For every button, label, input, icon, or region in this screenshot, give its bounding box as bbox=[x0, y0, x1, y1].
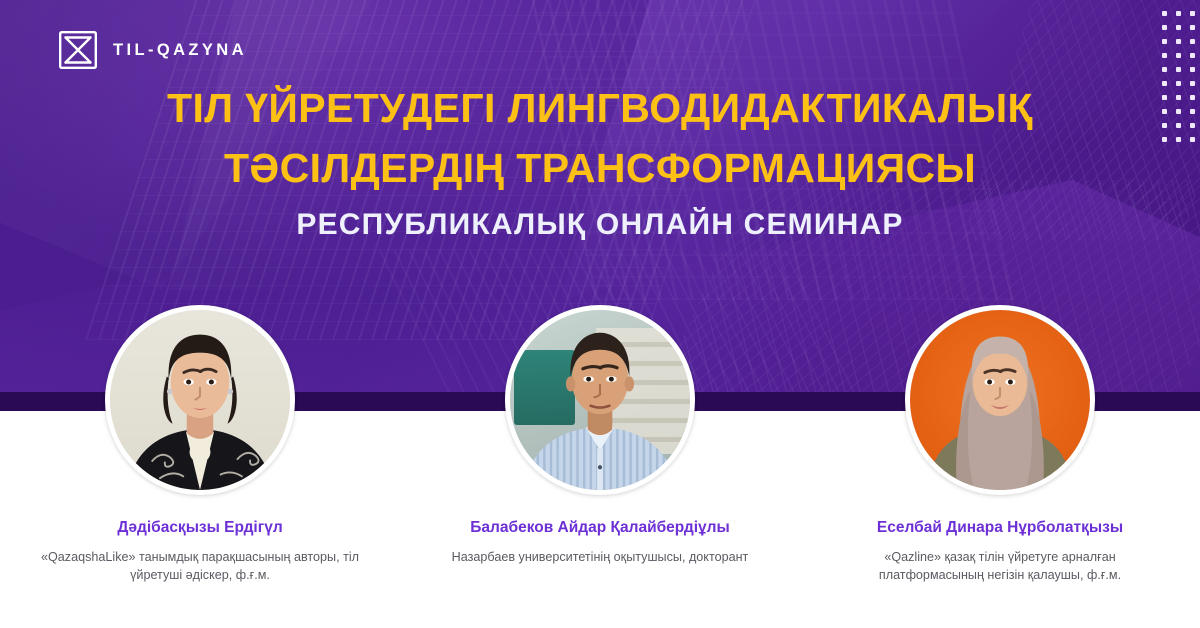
decorative-dot bbox=[1190, 81, 1195, 86]
speaker-name: Еселбай Динара Нұрболатқызы bbox=[877, 519, 1123, 537]
decorative-dot bbox=[1162, 25, 1167, 30]
speaker-portrait-dadibasqyzy-erdigul bbox=[110, 310, 290, 490]
speaker-card: Балабеков Айдар Қалайбердіұлы Назарбаев … bbox=[400, 305, 800, 566]
page-title-line2: ТӘСІЛДЕРДІҢ ТРАНСФОРМАЦИЯСЫ bbox=[0, 148, 1200, 189]
speaker-portrait-eselbay-dinara bbox=[910, 310, 1090, 490]
brand-name: TIL-QAZYNA bbox=[113, 41, 247, 60]
decorative-dot bbox=[1176, 39, 1181, 44]
decorative-dot bbox=[1162, 67, 1167, 72]
speaker-card: Еселбай Динара Нұрболатқызы «Qazline» қа… bbox=[800, 305, 1200, 585]
decorative-dot bbox=[1176, 25, 1181, 30]
decorative-dot bbox=[1162, 137, 1167, 142]
speakers-row: Дәдібасқызы Ердігүл «QazaqshaLike» таным… bbox=[0, 305, 1200, 605]
decorative-dot bbox=[1176, 53, 1181, 58]
decorative-dot bbox=[1162, 53, 1167, 58]
decorative-dot bbox=[1190, 53, 1195, 58]
decorative-dot bbox=[1190, 25, 1195, 30]
speaker-description: «QazaqshaLike» танымдық парақшасының авт… bbox=[35, 548, 365, 585]
decorative-dot bbox=[1176, 67, 1181, 72]
brand-logo[interactable]: TIL-QAZYNA bbox=[58, 30, 247, 70]
decorative-dot bbox=[1190, 39, 1195, 44]
decorative-dot bbox=[1162, 11, 1167, 16]
avatar bbox=[105, 305, 295, 495]
decorative-dot bbox=[1190, 137, 1195, 142]
speaker-description: Назарбаев университетінің оқытушысы, док… bbox=[452, 548, 749, 566]
decorative-dot bbox=[1162, 81, 1167, 86]
speaker-description: «Qazline» қазақ тілін үйретуге арналған … bbox=[835, 548, 1165, 585]
avatar bbox=[505, 305, 695, 495]
speaker-name: Балабеков Айдар Қалайбердіұлы bbox=[470, 519, 729, 537]
decorative-dot bbox=[1176, 11, 1181, 16]
avatar bbox=[905, 305, 1095, 495]
decorative-dot bbox=[1176, 81, 1181, 86]
speaker-portrait-balabekov-aidar bbox=[510, 310, 690, 490]
speaker-name: Дәдібасқызы Ердігүл bbox=[117, 519, 282, 537]
speaker-card: Дәдібасқызы Ердігүл «QazaqshaLike» таным… bbox=[0, 305, 400, 585]
decorative-dot bbox=[1176, 137, 1181, 142]
tilqazyna-diamond-mark-icon bbox=[58, 30, 98, 70]
page-title-line1: ТІЛ ҮЙРЕТУДЕГІ ЛИНГВОДИДАКТИКАЛЫҚ bbox=[0, 88, 1200, 129]
decorative-dot bbox=[1162, 39, 1167, 44]
page-subtitle: РЕСПУБЛИКАЛЫҚ ОНЛАЙН СЕМИНАР bbox=[0, 208, 1200, 242]
seminar-poster: TIL-QAZYNA ТІЛ ҮЙРЕТУДЕГІ ЛИНГВОДИДАКТИК… bbox=[0, 0, 1200, 628]
decorative-dot bbox=[1190, 67, 1195, 72]
decorative-dot bbox=[1190, 11, 1195, 16]
decorative-dot-grid bbox=[1162, 11, 1200, 161]
